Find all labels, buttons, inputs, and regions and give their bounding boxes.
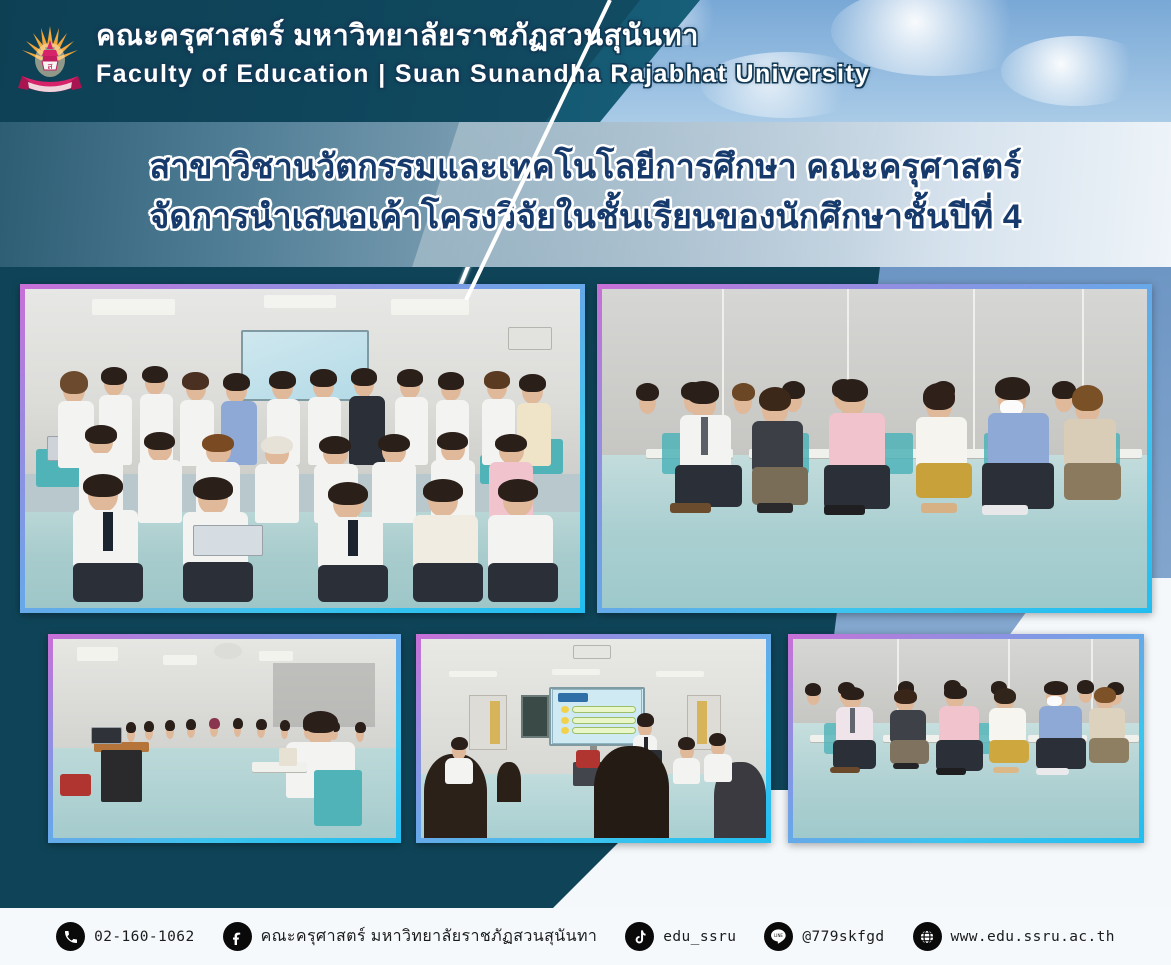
- header-title-group: คณะครุศาสตร์ มหาวิทยาลัยราชภัฏสวนสุนันทา…: [96, 18, 870, 91]
- line-icon: LINE: [764, 922, 793, 951]
- tiktok-icon: [625, 922, 654, 951]
- header-title-thai: คณะครุศาสตร์ มหาวิทยาลัยราชภัฏสวนสุนันทา: [96, 18, 870, 54]
- title-line-1: สาขาวิชานวัตกรรมและเทคโนโลยีการศึกษา คณะ…: [0, 142, 1171, 192]
- page-title: สาขาวิชานวัตกรรมและเทคโนโลยีการศึกษา คณะ…: [0, 142, 1171, 242]
- website-url: www.edu.ssru.ac.th: [951, 929, 1115, 945]
- contact-phone[interactable]: 02-160-1062: [56, 922, 194, 951]
- contact-tiktok[interactable]: edu_ssru: [625, 922, 736, 951]
- phone-number: 02-160-1062: [94, 929, 194, 945]
- header-title-english: Faculty of Education | Suan Sunandha Raj…: [96, 57, 870, 91]
- photo-lecture-room-wide[interactable]: [48, 634, 401, 843]
- contact-facebook[interactable]: คณะครุศาสตร์ มหาวิทยาลัยราชภัฏสวนสุนันทา: [223, 922, 598, 951]
- poster-root: ส คณะครุศาสตร์ มหาวิทยาลัยราชภัฏสวนสุนัน…: [0, 0, 1171, 965]
- photo-audience-seated[interactable]: [597, 284, 1152, 613]
- photo-group-students[interactable]: [20, 284, 585, 613]
- svg-text:ส: ส: [47, 62, 53, 72]
- contact-line[interactable]: LINE @779skfgd: [764, 922, 884, 951]
- ssru-emblem-icon: ส: [14, 16, 86, 108]
- cloud-decor: [1001, 36, 1151, 106]
- facebook-page-name: คณะครุศาสตร์ มหาวิทยาลัยราชภัฏสวนสุนันทา: [261, 924, 598, 949]
- title-band: สาขาวิชานวัตกรรมและเทคโนโลยีการศึกษา คณะ…: [0, 122, 1171, 267]
- photo-audience-rows[interactable]: [788, 634, 1144, 843]
- contact-website[interactable]: www.edu.ssru.ac.th: [913, 922, 1115, 951]
- header-banner: ส คณะครุศาสตร์ มหาวิทยาลัยราชภัฏสวนสุนัน…: [0, 0, 1171, 122]
- title-line-2: จัดการนำเสนอเค้าโครงวิจัยในชั้นเรียนของน…: [0, 192, 1171, 242]
- globe-icon: [913, 922, 942, 951]
- slide-header-box: [558, 693, 588, 702]
- phone-icon: [56, 922, 85, 951]
- line-id: @779skfgd: [802, 929, 884, 945]
- footer-contact-bar: 02-160-1062 คณะครุศาสตร์ มหาวิทยาลัยราชภ…: [0, 908, 1171, 965]
- svg-text:LINE: LINE: [774, 933, 783, 938]
- photo-presentation-screen[interactable]: [416, 634, 771, 843]
- facebook-icon: [223, 922, 252, 951]
- tiktok-handle: edu_ssru: [663, 929, 736, 945]
